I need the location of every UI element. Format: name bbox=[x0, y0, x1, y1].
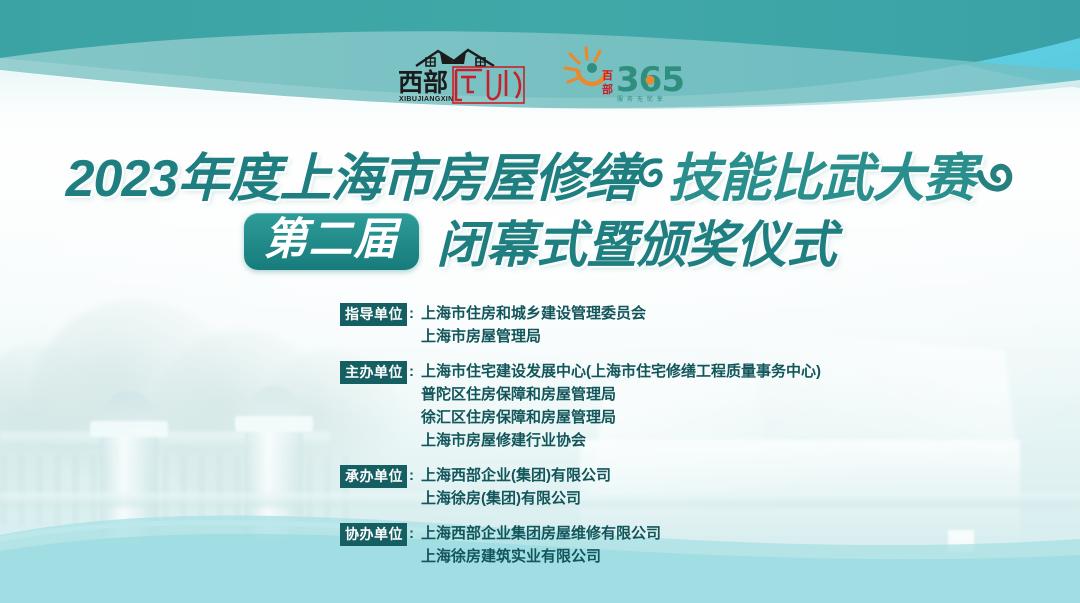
poster-canvas: 西部 XIBUJIANGXIN 匠心 bbox=[0, 0, 1080, 603]
xibu-365-logo: 百 部 365 服 务 无 忧 享 bbox=[562, 46, 690, 104]
credit-colon: : bbox=[407, 522, 421, 545]
title-line1-part1: 2023年度上海市房屋修缮 bbox=[66, 136, 637, 211]
credit-label: 指导单位 bbox=[340, 303, 407, 326]
logo-cn-text: 西部 bbox=[398, 68, 448, 97]
credit-line: 上海市住房和城乡建设管理委员会 bbox=[421, 302, 960, 325]
credit-line: 上海市房屋修建行业协会 bbox=[421, 429, 960, 452]
credit-group: 指导单位 : 上海市住房和城乡建设管理委员会 上海市房屋管理局 bbox=[340, 302, 960, 348]
swirl-flourish-icon bbox=[636, 149, 666, 197]
credit-line: 上海徐房(集团)有限公司 bbox=[421, 487, 960, 510]
credit-group: 承办单位 : 上海西部企业(集团)有限公司 上海徐房(集团)有限公司 bbox=[340, 464, 960, 510]
title-line1-part2: 技能比武大赛 bbox=[668, 136, 974, 211]
sun-core-icon bbox=[587, 63, 597, 73]
logo365-tagline: 服 务 无 忧 享 bbox=[617, 95, 664, 103]
edition-badge: 第二届 bbox=[244, 213, 419, 270]
credit-line: 普陀区住房保障和房屋管理局 bbox=[421, 383, 960, 406]
xibu-jiangxin-logo: 西部 XIBUJIANGXIN 匠心 bbox=[390, 44, 528, 106]
credit-colon: : bbox=[407, 464, 421, 487]
title-line-2: 第二届 闭幕式暨颁奖仪式 bbox=[0, 210, 1080, 272]
credit-line: 上海市住宅建设发展中心(上海市住宅修缮工程质量事务中心) bbox=[421, 360, 960, 383]
title-line2-text: 闭幕式暨颁奖仪式 bbox=[437, 205, 837, 277]
logo365-dot-icon bbox=[646, 76, 655, 85]
title-block: 2023年度上海市房屋修缮 技能比武大赛 第二届 闭幕式暨颁奖仪式 bbox=[0, 140, 1080, 272]
credit-line: 上海市房屋管理局 bbox=[421, 325, 960, 348]
logo-row: 西部 XIBUJIANGXIN 匠心 bbox=[0, 44, 1080, 106]
credits-block: 指导单位 : 上海市住房和城乡建设管理委员会 上海市房屋管理局 主办单位 : 上… bbox=[340, 302, 960, 580]
credit-line: 上海西部企业(集团)有限公司 bbox=[421, 464, 960, 487]
credit-label: 主办单位 bbox=[340, 361, 407, 384]
swirl-flourish-end-icon bbox=[976, 147, 1014, 199]
logo365-cn-bottom: 部 bbox=[602, 82, 613, 96]
credit-line: 上海西部企业集团房屋维修有限公司 bbox=[421, 522, 960, 545]
credit-group: 协办单位 : 上海西部企业集团房屋维修有限公司 上海徐房建筑实业有限公司 bbox=[340, 522, 960, 568]
credit-lines: 上海西部企业集团房屋维修有限公司 上海徐房建筑实业有限公司 bbox=[421, 522, 960, 568]
credit-line: 上海徐房建筑实业有限公司 bbox=[421, 545, 960, 568]
credit-line: 徐汇区住房保障和房屋管理局 bbox=[421, 406, 960, 429]
credit-lines: 上海西部企业(集团)有限公司 上海徐房(集团)有限公司 bbox=[421, 464, 960, 510]
credit-colon: : bbox=[407, 302, 421, 325]
credit-lines: 上海市住宅建设发展中心(上海市住宅修缮工程质量事务中心) 普陀区住房保障和房屋管… bbox=[421, 360, 960, 452]
credit-colon: : bbox=[407, 360, 421, 383]
credit-group: 主办单位 : 上海市住宅建设发展中心(上海市住宅修缮工程质量事务中心) 普陀区住… bbox=[340, 360, 960, 452]
logo365-cn-top: 百 bbox=[602, 69, 613, 82]
credit-label: 协办单位 bbox=[340, 523, 407, 546]
logo-pinyin-text: XIBUJIANGXIN bbox=[399, 96, 454, 103]
title-line-1: 2023年度上海市房屋修缮 技能比武大赛 bbox=[0, 140, 1080, 206]
credit-label: 承办单位 bbox=[340, 465, 407, 488]
credit-lines: 上海市住房和城乡建设管理委员会 上海市房屋管理局 bbox=[421, 302, 960, 348]
